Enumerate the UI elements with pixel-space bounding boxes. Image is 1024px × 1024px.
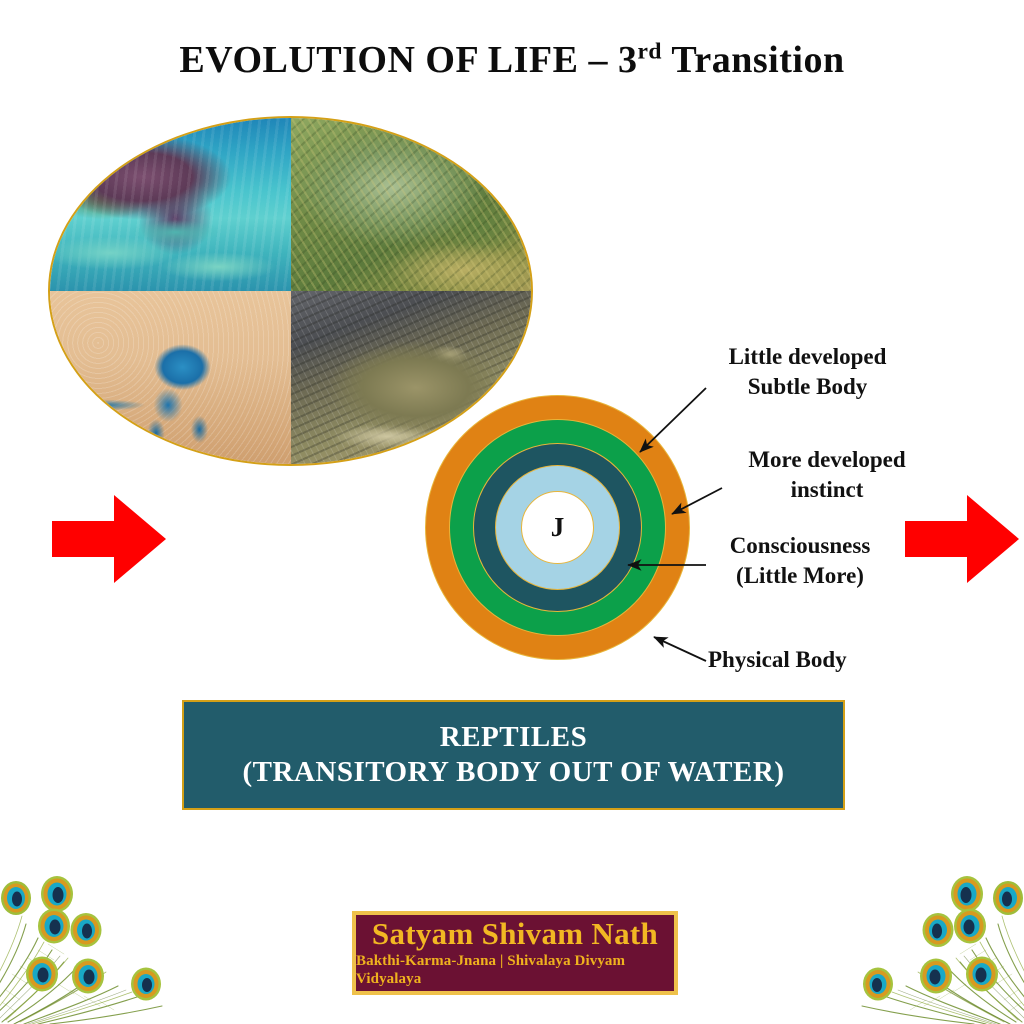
brand-tagline: Bakthi-Karma-Jnana | Shivalaya Divyam Vi… bbox=[356, 952, 674, 988]
collage-photo-turtle-vegetation bbox=[291, 118, 532, 291]
caption-line2: (TRANSITORY BODY OUT OF WATER) bbox=[243, 755, 785, 790]
jiva-core-letter: J bbox=[551, 514, 565, 541]
flow-in-arrow bbox=[52, 493, 167, 585]
callout-instinct-line1: More developed bbox=[714, 445, 940, 475]
callout-subtle-body-line1: Little developed bbox=[700, 342, 915, 372]
flow-out-arrow bbox=[905, 493, 1020, 585]
collage-photo-sea-turtle bbox=[50, 118, 291, 291]
callout-instinct-line2: instinct bbox=[714, 475, 940, 505]
collage-photo-blue-lizard bbox=[50, 291, 291, 464]
brand-name: Satyam Shivam Nath bbox=[372, 918, 658, 949]
page-title: EVOLUTION OF LIFE – 3rd Transition bbox=[0, 38, 1024, 82]
callout-physical-body: Physical Body bbox=[708, 645, 904, 675]
peacock-feathers-left bbox=[0, 854, 204, 1024]
callout-physical-body-line1: Physical Body bbox=[708, 645, 904, 675]
page-title-tail: Transition bbox=[662, 39, 845, 81]
brand-logo: Satyam Shivam Nath Bakthi-Karma-Jnana | … bbox=[352, 911, 678, 995]
body-layers-diagram: J bbox=[425, 395, 690, 660]
page-title-main: EVOLUTION OF LIFE – 3 bbox=[179, 39, 637, 81]
page-title-ordinal-suffix: rd bbox=[637, 38, 662, 64]
jiva-core: J bbox=[521, 491, 594, 564]
callout-consciousness: Consciousness (Little More) bbox=[700, 531, 900, 592]
callout-consciousness-line2: (Little More) bbox=[700, 561, 900, 591]
caption-line1: REPTILES bbox=[440, 720, 587, 755]
callout-instinct: More developed instinct bbox=[714, 445, 940, 506]
callout-subtle-body-line2: Subtle Body bbox=[700, 372, 915, 402]
caption-box: REPTILES (TRANSITORY BODY OUT OF WATER) bbox=[182, 700, 845, 810]
callout-consciousness-line1: Consciousness bbox=[700, 531, 900, 561]
peacock-feathers-right bbox=[820, 854, 1024, 1024]
callout-subtle-body: Little developed Subtle Body bbox=[700, 342, 915, 403]
